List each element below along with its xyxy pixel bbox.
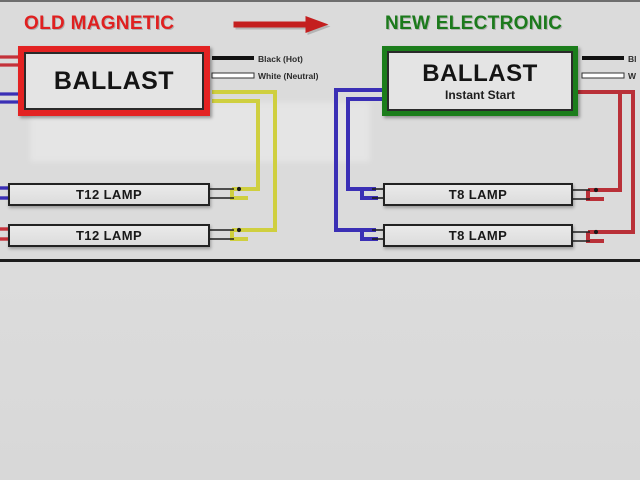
new-ballast-subtitle: Instant Start bbox=[445, 88, 515, 102]
old-ballast-left-blue-wires bbox=[0, 94, 20, 102]
t12-lamp-2: T12 LAMP bbox=[8, 224, 210, 247]
t8-lamp-2-label: T8 LAMP bbox=[449, 228, 507, 243]
t8-lamp-1-label: T8 LAMP bbox=[449, 187, 507, 202]
wiring-diagram-pane: OLD MAGNETIC NEW ELECTRONIC BALLAST BALL… bbox=[0, 2, 640, 260]
new-ballast-label: BALLAST bbox=[422, 61, 537, 87]
new-ballast-line-leads bbox=[582, 58, 624, 78]
t12-lamp-2-label: T12 LAMP bbox=[76, 228, 142, 243]
new-neutral-wire-label: W bbox=[628, 71, 636, 81]
diagram-canvas: OLD MAGNETIC NEW ELECTRONIC BALLAST BALL… bbox=[0, 0, 640, 480]
old-ballast-inner: BALLAST bbox=[24, 52, 204, 110]
t8-lamp-1: T8 LAMP bbox=[383, 183, 573, 206]
t8-lamp-2: T8 LAMP bbox=[383, 224, 573, 247]
old-hot-wire-label: Black (Hot) bbox=[258, 54, 303, 64]
new-ballast-inner: BALLAST Instant Start bbox=[387, 51, 573, 111]
old-ballast-yellow-wires bbox=[212, 92, 275, 239]
lower-empty-pane bbox=[0, 262, 640, 480]
junction-dot bbox=[594, 230, 598, 234]
right-arrow-icon bbox=[232, 13, 344, 35]
new-hot-wire-label: Bl bbox=[628, 54, 637, 64]
junction-dot bbox=[237, 228, 241, 232]
old-neutral-wire-label: White (Neutral) bbox=[258, 71, 318, 81]
section-title-new: NEW ELECTRONIC bbox=[385, 13, 562, 35]
junction-dot bbox=[594, 188, 598, 192]
section-title-old: OLD MAGNETIC bbox=[24, 13, 174, 35]
old-ballast-left-red-wires bbox=[0, 57, 20, 65]
old-ballast-box: BALLAST bbox=[18, 46, 210, 116]
wiring-svg bbox=[0, 2, 640, 260]
old-ballast-line-leads bbox=[212, 58, 254, 78]
new-ballast-box: BALLAST Instant Start bbox=[382, 46, 578, 116]
new-ballast-blue-wires bbox=[336, 90, 382, 239]
t12-lamp-1-label: T12 LAMP bbox=[76, 187, 142, 202]
new-ballast-red-wires bbox=[578, 92, 633, 241]
t12-lamp-1: T12 LAMP bbox=[8, 183, 210, 206]
old-ballast-label: BALLAST bbox=[54, 67, 174, 96]
junction-dot bbox=[237, 187, 241, 191]
